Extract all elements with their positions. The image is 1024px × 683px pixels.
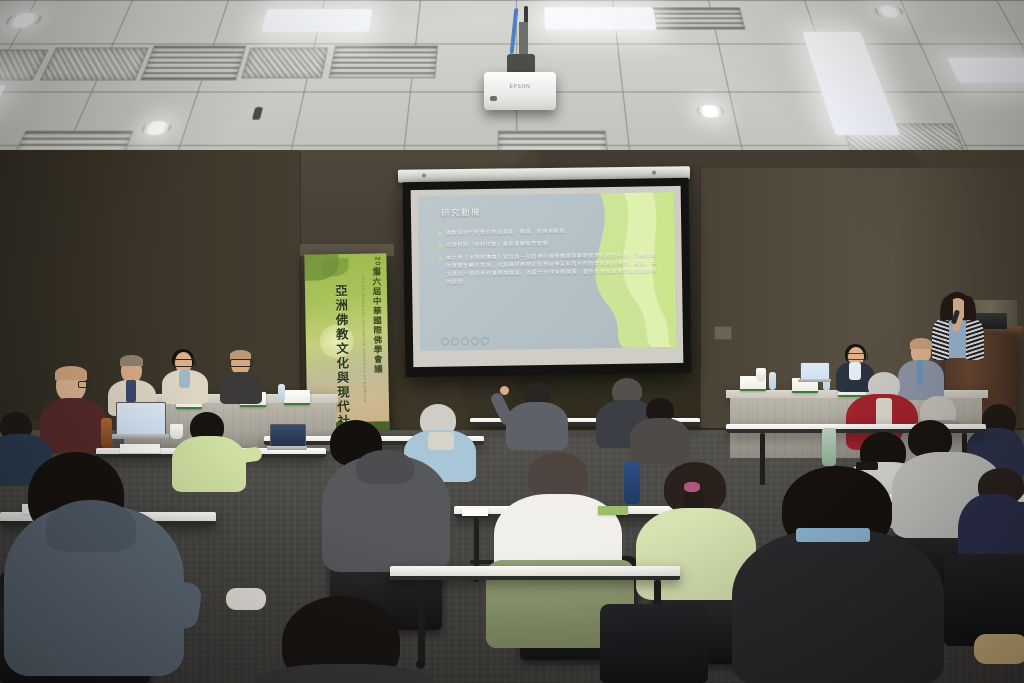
banner-english-subtitle: The 6th Chung-Hwa International Conferen…	[361, 276, 367, 403]
eyeglasses-icon	[174, 359, 196, 367]
shaved-head	[910, 338, 932, 349]
grey-hair	[120, 355, 143, 366]
slide-footer-icon	[450, 338, 458, 346]
desk-caster	[416, 660, 425, 669]
raised-hand	[500, 386, 509, 395]
banner-conference-name: 第六屆中華國際佛學會議	[371, 267, 384, 374]
slide-footer-icon	[480, 337, 488, 345]
bald-head	[55, 366, 87, 380]
slide-footer-icon	[470, 337, 478, 345]
slide-bullet-text: 佛教與現代哲學的對話潛能：倫理、自我與解脫	[446, 228, 566, 238]
panelist-shirt	[179, 370, 190, 388]
lanyard	[796, 528, 870, 542]
arm	[133, 576, 203, 630]
slide-footer-icon	[460, 338, 468, 346]
speaker-jacket-left	[932, 320, 949, 360]
eyeglasses-icon	[78, 381, 92, 388]
water-bottle	[822, 428, 836, 466]
paper-sheet	[120, 444, 160, 453]
ceiling-panel-light	[261, 9, 373, 32]
slide-bullet-text: 以傅柯的「自我技藝」重新理解般若智慧	[446, 240, 549, 250]
necktie	[126, 380, 136, 402]
lecture-hall-photo: EPSON 研究動機 ▶ 佛教與現代哲學的對話潛能：倫理、自我與	[0, 0, 1024, 683]
thermos-bottle	[101, 418, 112, 448]
bullet-marker-icon: ▶	[439, 242, 443, 250]
water-bottle	[278, 384, 285, 401]
shoe	[974, 634, 1024, 664]
ceiling-panel-light	[947, 58, 1024, 83]
coffee-cup	[756, 368, 766, 382]
speaker-jacket-right	[966, 320, 984, 360]
slide-bullet-list: ▶ 佛教與現代哲學的對話潛能：倫理、自我與解脫 ▶ 以傅柯的「自我技藝」重新理解…	[439, 226, 661, 291]
backpack	[600, 604, 708, 683]
eyeglasses-icon	[230, 359, 253, 367]
hvac-vent	[140, 45, 247, 80]
slide-bullet-text: 本文將《金剛經講義》定位為一部自律的倫理實踐與解脫智慧的實修手冊，凸顯此經的實踐…	[446, 251, 661, 287]
slide-title: 研究動機	[441, 206, 481, 219]
water-bottle	[769, 372, 776, 390]
wall-seam	[700, 166, 701, 428]
bullet-marker-icon: ▶	[439, 230, 443, 238]
panelist-shirt	[849, 362, 861, 380]
lanyard	[917, 360, 923, 386]
hair-tie	[684, 482, 700, 492]
cup	[170, 424, 183, 439]
projector-lens	[490, 96, 497, 101]
eyeglasses-icon	[847, 353, 868, 360]
projector-brand-label: EPSON	[509, 84, 530, 90]
slide-footer-icon	[440, 338, 448, 346]
desk-leg	[418, 580, 425, 664]
bullet-marker-icon: ▶	[439, 254, 443, 287]
slide-footer-icons	[440, 337, 488, 346]
ceiling-panel-light	[544, 7, 656, 30]
hvac-vent	[39, 47, 149, 80]
slide-bullet: ▶ 以傅柯的「自我技藝」重新理解般若智慧	[439, 239, 660, 251]
hoodie-hood	[46, 500, 136, 552]
scarf	[428, 432, 454, 450]
hvac-vent	[241, 47, 328, 78]
shoe	[226, 588, 266, 610]
green-card	[598, 506, 628, 515]
backpack	[944, 554, 1024, 646]
desk-leg	[760, 433, 765, 485]
wall-outlet[interactable]	[714, 326, 732, 340]
hoodie-hood	[356, 450, 414, 484]
presentation-slide: 研究動機 ▶ 佛教與現代哲學的對話潛能：倫理、自我與解脫 ▶ 以傅柯的「自我技藝…	[418, 192, 677, 351]
wall-seam	[300, 152, 301, 420]
nameplate	[284, 390, 310, 405]
slide-bullet: ▶ 本文將《金剛經講義》定位為一部自律的倫理實踐與解脫智慧的實修手冊，凸顯此經的…	[439, 251, 661, 287]
hvac-vent	[641, 7, 746, 30]
screen-surface: 研究動機 ▶ 佛教與現代哲學的對話潛能：倫理、自我與解脫 ▶ 以傅柯的「自我技藝…	[411, 186, 684, 367]
hvac-vent	[328, 45, 438, 78]
ceiling-projector: EPSON	[484, 72, 556, 110]
projection-screen: 研究動機 ▶ 佛教與現代哲學的對話潛能：倫理、自我與解脫 ▶ 以傅柯的「自我技藝…	[402, 178, 691, 377]
slide-bullet: ▶ 佛教與現代哲學的對話潛能：倫理、自我與解脫	[439, 226, 660, 238]
audience-desk-front	[390, 566, 680, 580]
paper-sheet	[462, 508, 488, 516]
water-bottle	[624, 462, 640, 504]
